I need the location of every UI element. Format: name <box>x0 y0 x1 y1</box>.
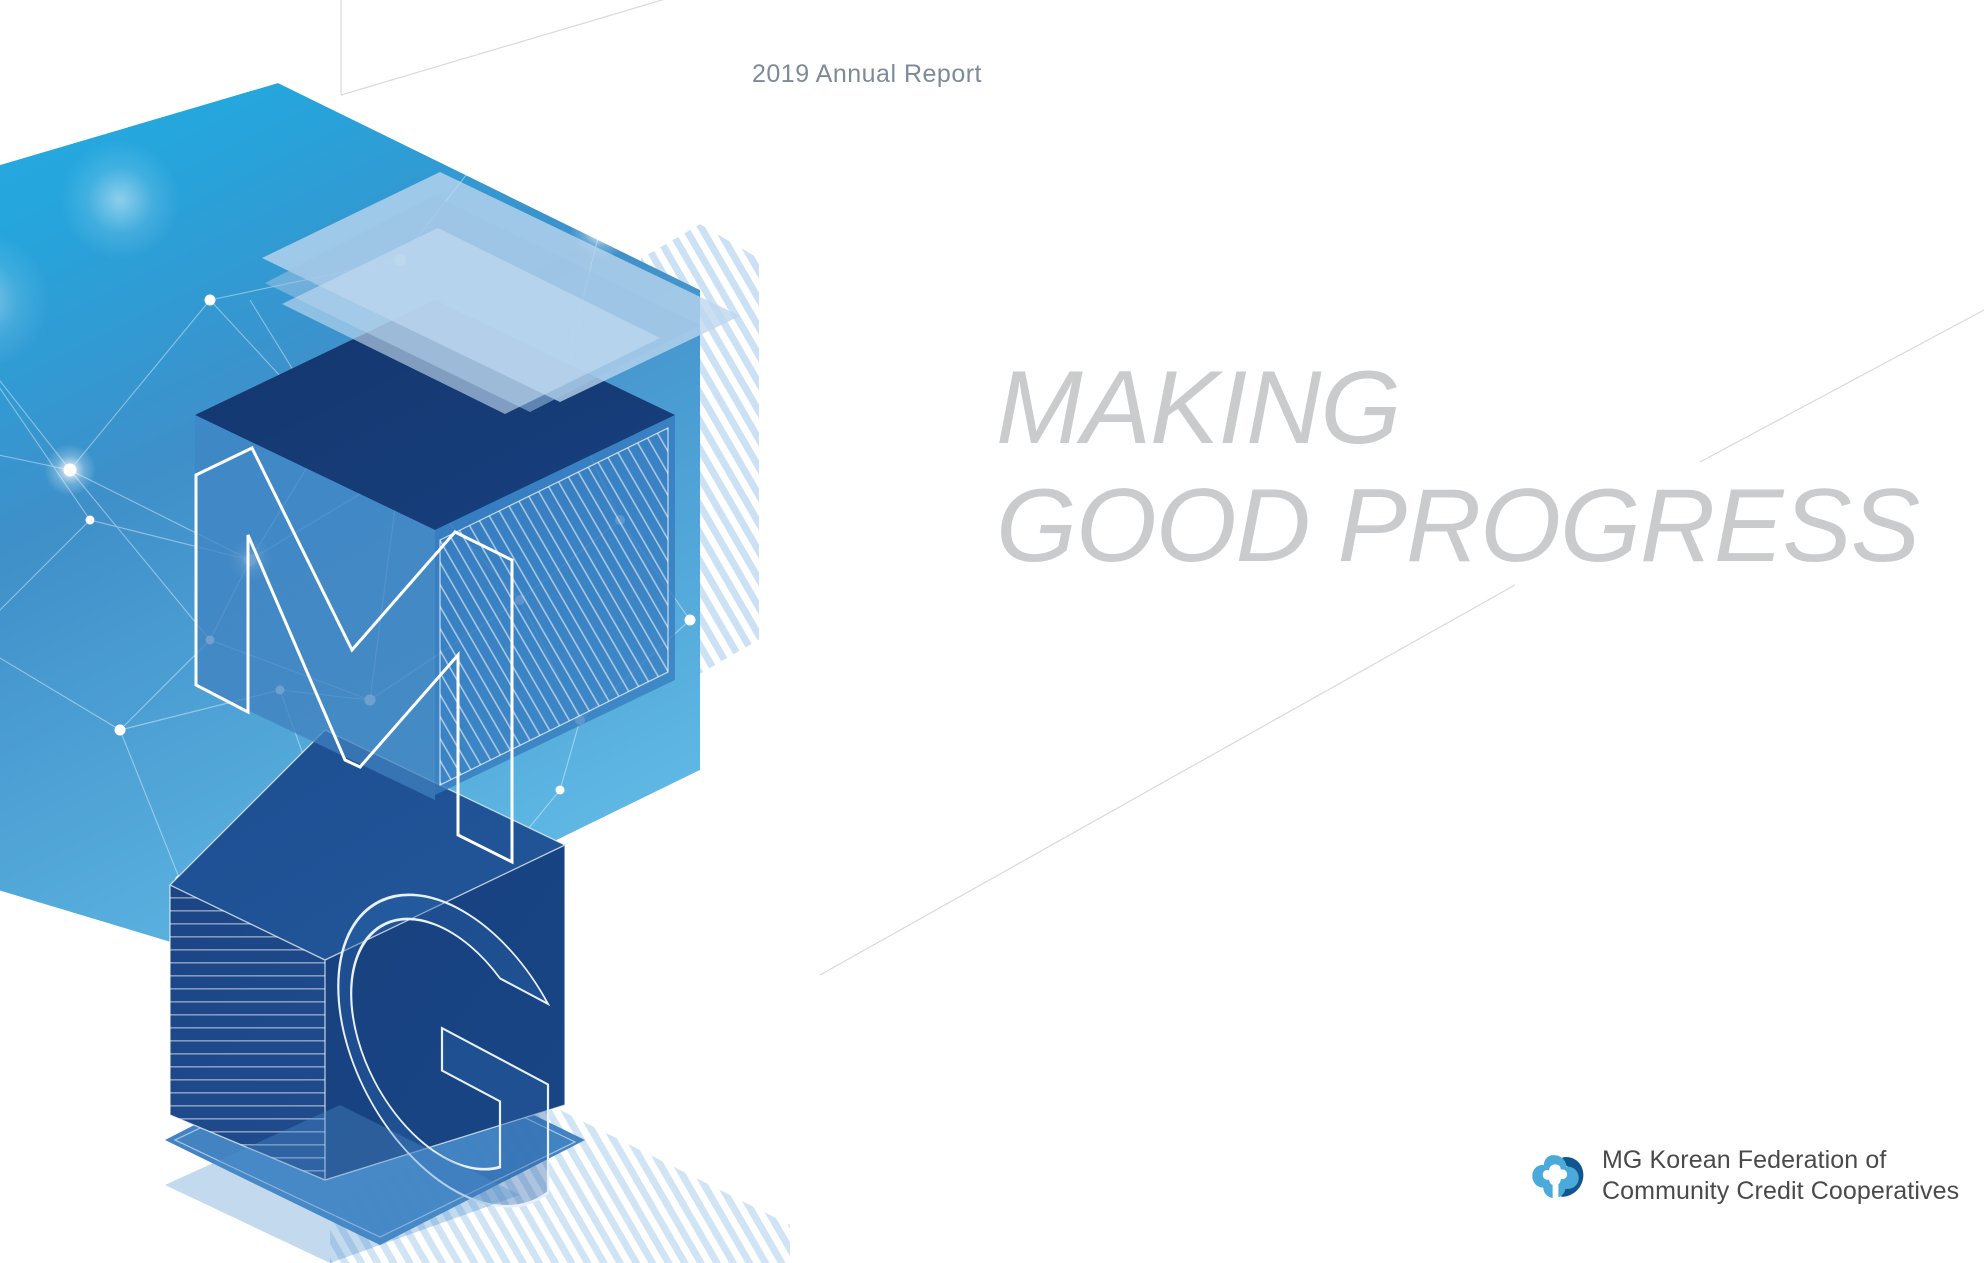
report-caption: 2019 Annual Report <box>0 60 1984 89</box>
logo-line-1: MG Korean Federation of <box>1602 1146 1886 1174</box>
logo-wordmark: MG Korean Federation of Community Credit… <box>1602 1145 1959 1206</box>
logo-line-2: Community Credit Cooperatives <box>1602 1176 1959 1207</box>
brand-logo: MG Korean Federation of Community Credit… <box>1530 1145 1959 1206</box>
mg-clover-logo-icon <box>1530 1147 1588 1205</box>
page-title: MAKING GOOD PROGRESS <box>996 350 1976 585</box>
headline-line-2: GOOD PROGRESS <box>996 468 1976 586</box>
hero-artwork <box>0 0 1000 1263</box>
cover-page: 2019 Annual Report MAKING GOOD PROGRESS … <box>0 0 1984 1263</box>
headline-line-1: MAKING <box>996 350 1976 468</box>
report-caption-text: 2019 Annual Report <box>752 60 982 88</box>
